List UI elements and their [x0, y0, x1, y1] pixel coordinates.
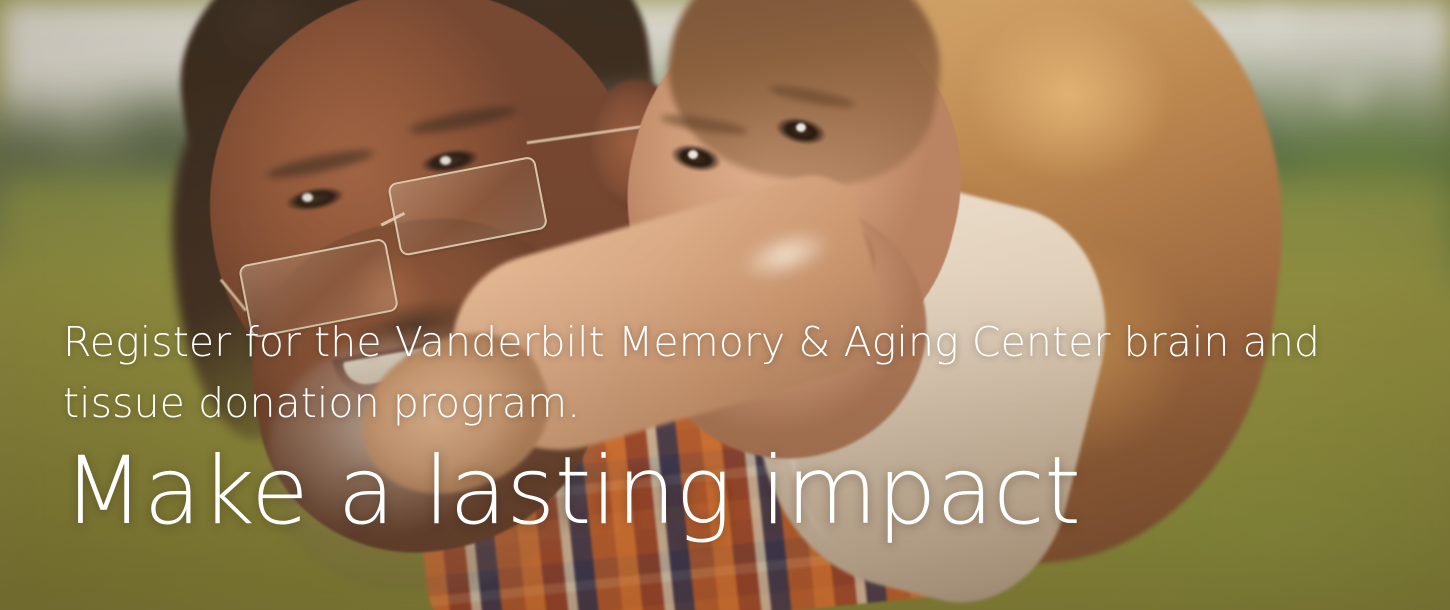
girl-eye-highlight-right	[796, 123, 806, 132]
hero-banner: Register for the Vanderbilt Memory & Agi…	[0, 0, 1450, 610]
girl-eye-highlight-left	[688, 150, 698, 159]
hero-headline: Make a lasting impact	[63, 442, 1403, 542]
hero-copy-block: Register for the Vanderbilt Memory & Agi…	[63, 312, 1403, 542]
hero-kicker-text: Register for the Vanderbilt Memory & Agi…	[63, 312, 1393, 433]
eyeglass-lens-right	[387, 156, 548, 257]
